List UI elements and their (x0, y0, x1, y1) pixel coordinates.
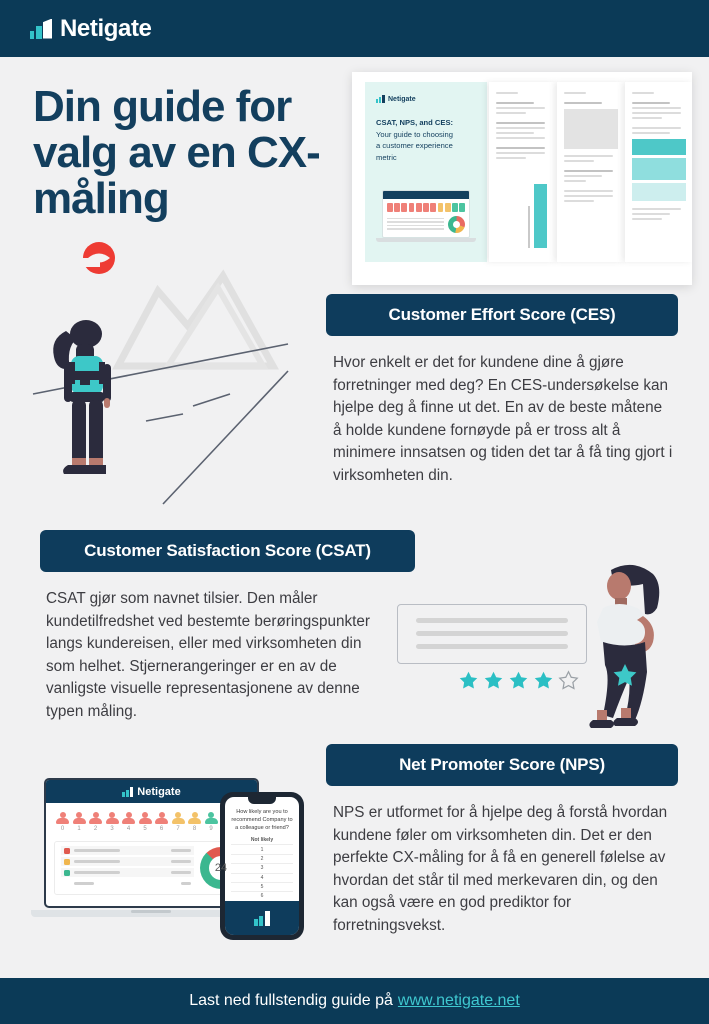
star-filled-icon (508, 670, 529, 691)
hiker-figure (53, 320, 111, 474)
nps-scale-label: 7 (172, 826, 185, 832)
bar-chart-logo-icon (122, 787, 133, 797)
person-icon (205, 812, 218, 824)
ebook-cover-title: CSAT, NPS, and CES: Your guide to choosi… (376, 117, 476, 163)
nps-scale-label: 0 (56, 826, 69, 832)
legend-row (61, 868, 194, 877)
ebook-inner-page-3 (625, 82, 692, 262)
nps-scale-item: 8 (188, 812, 201, 832)
ebook-preview-image: Netigate CSAT, NPS, and CES: Your guide … (352, 72, 692, 285)
ebook-title-line-2: Your guide to choosing (376, 129, 476, 141)
hiker-scene-svg (18, 236, 348, 511)
nps-scale-item: 9 (205, 812, 218, 832)
section-body-csat: CSAT gjør som navnet tilsier. Den måler … (46, 588, 378, 724)
person-icon (89, 812, 102, 824)
person-icon (172, 812, 185, 824)
person-icon (73, 812, 86, 824)
standing-woman-figure (581, 558, 691, 733)
csat-star-illustration (385, 558, 685, 733)
ebook-cover-logo: Netigate (376, 95, 476, 103)
ebook-title-line-4: metric (376, 152, 476, 164)
person-icon (155, 812, 168, 824)
star-filled-icon (458, 670, 479, 691)
section-body-ces: Hvor enkelt er det for kundene dine å gj… (333, 352, 673, 488)
nps-device-illustration: Netigate 012345678910 24 (44, 778, 314, 943)
review-card (397, 604, 587, 664)
ebook-title-line-1: CSAT, NPS, and CES: (376, 117, 476, 129)
nps-scale-item: 1 (73, 812, 86, 832)
top-brand-bar: Netigate (0, 0, 709, 57)
nps-scale-label: 9 (205, 826, 218, 832)
bar-chart-logo-icon (254, 911, 270, 926)
footer-link[interactable]: www.netigate.net (398, 992, 520, 1010)
nps-scale-label: 2 (89, 826, 102, 832)
nps-legend-table (61, 846, 194, 890)
bar-chart-logo-icon (376, 95, 385, 103)
legend-row (61, 857, 194, 866)
hiker-illustration (18, 236, 348, 511)
survey-option[interactable]: Not likely (231, 836, 293, 845)
brand-name: Netigate (60, 15, 152, 43)
nps-scale-item: 6 (155, 812, 168, 832)
red-marker-icon (80, 242, 115, 274)
nps-score-value: 24 (200, 847, 242, 889)
nps-scale-item: 3 (106, 812, 119, 832)
review-line (416, 631, 568, 636)
nps-scale-label: 4 (122, 826, 135, 832)
footer-bar: Last ned fullstendig guide på www.netiga… (0, 978, 709, 1024)
ebook-title-line-3: a customer experience (376, 140, 476, 152)
review-line (416, 618, 568, 623)
nps-scale-label: 8 (188, 826, 201, 832)
footer-text: Last ned fullstendig guide på (189, 992, 393, 1010)
star-filled-icon (483, 670, 504, 691)
nps-scale-label: 3 (106, 826, 119, 832)
nps-scale-item: 5 (139, 812, 152, 832)
person-icon (56, 812, 69, 824)
nps-scale-label: 6 (155, 826, 168, 832)
person-icon (106, 812, 119, 824)
person-icon (188, 812, 201, 824)
phone-footer-logo (225, 901, 299, 935)
nps-scale-item: 4 (122, 812, 135, 832)
legend-row (61, 846, 194, 855)
ebook-cover-brand: Netigate (388, 96, 416, 103)
ebook-cover: Netigate CSAT, NPS, and CES: Your guide … (365, 82, 487, 262)
phone-notch (248, 797, 276, 804)
star-rating (458, 670, 579, 691)
nps-person-icons: 012345678910 (56, 812, 247, 832)
infographic-page: Netigate Din guide for valg av en CX-mål… (0, 0, 709, 1024)
review-line (416, 644, 568, 649)
section-header-csat: Customer Satisfaction Score (CSAT) (40, 530, 415, 572)
nps-scale-label: 1 (73, 826, 86, 832)
nps-scale-item: 7 (172, 812, 185, 832)
dashboard-brand: Netigate (137, 786, 180, 798)
nps-scale-item: 0 (56, 812, 69, 832)
star-empty-icon (558, 670, 579, 691)
section-body-nps: NPS er utformet for å hjelpe deg å forst… (333, 802, 679, 938)
nps-scale-item: 2 (89, 812, 102, 832)
netigate-logo: Netigate (30, 15, 152, 43)
person-icon (122, 812, 135, 824)
bar-chart-logo-icon (30, 19, 52, 39)
ebook-inner-page-2 (557, 82, 625, 262)
section-header-ces: Customer Effort Score (CES) (326, 294, 678, 336)
section-header-nps: Net Promoter Score (NPS) (326, 744, 678, 786)
page-title: Din guide for valg av en CX-måling (33, 84, 363, 222)
ebook-inner-page-1 (489, 82, 557, 262)
ebook-cover-laptop-graphic (376, 190, 476, 248)
nps-score-donut: 24 (200, 847, 242, 889)
legend-row-total (61, 879, 194, 888)
nps-summary-panel: 24 (54, 841, 249, 895)
person-icon (139, 812, 152, 824)
nps-scale-label: 5 (139, 826, 152, 832)
star-filled-icon (533, 670, 554, 691)
